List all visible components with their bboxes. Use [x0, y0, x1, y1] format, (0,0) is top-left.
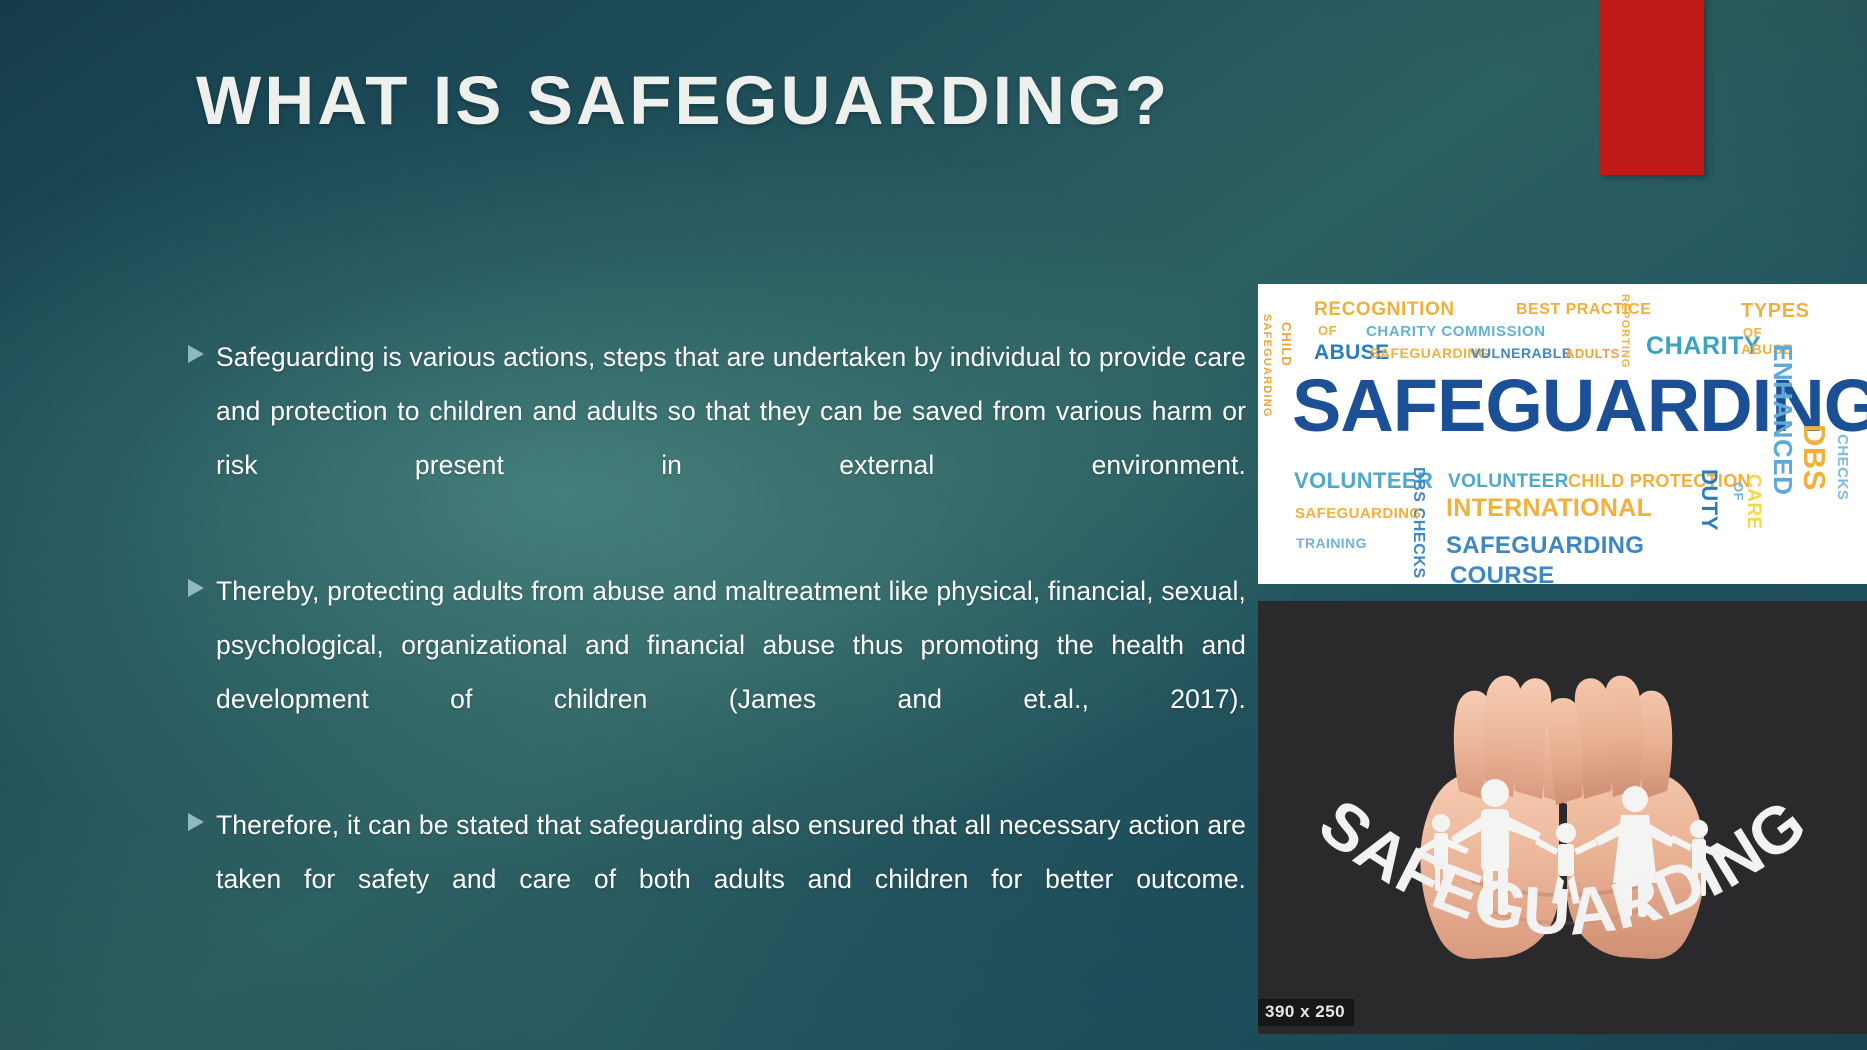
wordcloud-word: CHECKS	[1835, 434, 1850, 500]
bullet-text: Thereby, protecting adults from abuse an…	[216, 564, 1246, 780]
wordcloud-word: ENHANCED	[1770, 344, 1796, 495]
wordcloud-word: CHARITY COMMISSION	[1366, 324, 1546, 339]
slide-canvas: WHAT IS SAFEGUARDING? Safeguarding is va…	[0, 0, 1867, 1050]
triangle-bullet-icon	[186, 811, 216, 833]
wordcloud-word: CHILD PROTECTION	[1568, 472, 1751, 490]
image-size-badge: 390 x 250	[1258, 999, 1354, 1026]
wordcloud-word: OF	[1743, 326, 1762, 339]
wordcloud-word: INTERNATIONAL	[1446, 496, 1652, 521]
list-item: Safeguarding is various actions, steps t…	[186, 330, 1246, 546]
wordcloud-word: RECOGNITION	[1314, 300, 1455, 319]
wordcloud-word: TRAINING	[1296, 536, 1367, 550]
wordcloud-word: SAFEGUARDING	[1261, 314, 1272, 418]
red-accent-bar	[1600, 0, 1704, 175]
wordcloud-word: REPORTING	[1619, 294, 1630, 368]
image-column: SAFEGUARDINGCHILDRECOGNITIONOFABUSECHARI…	[1258, 284, 1867, 1034]
wordcloud-word: CARE	[1744, 474, 1763, 530]
wordcloud-word: SAFEGUARDING	[1295, 506, 1421, 521]
wordcloud-word: DBS CHECKS	[1410, 467, 1426, 579]
wordcloud-word: CHILD	[1280, 322, 1293, 367]
bullet-text: Therefore, it can be stated that safegua…	[216, 798, 1246, 960]
hands-illustration	[1323, 641, 1803, 971]
wordcloud-word: BEST PRACTICE	[1516, 302, 1651, 318]
wordcloud-word: COURSE	[1450, 564, 1554, 584]
wordcloud-word: SAFEGUARDING	[1446, 534, 1644, 558]
wordcloud-word: VULNERABLE	[1471, 346, 1572, 360]
hands-holding-paper-family-photo: SAFEGUARDING 390 x 250	[1258, 601, 1867, 1034]
wordcloud-word: VOLUNTEER	[1448, 472, 1569, 491]
wordcloud-word: ADULTS	[1565, 347, 1620, 360]
triangle-bullet-icon	[186, 577, 216, 599]
triangle-bullet-icon	[186, 343, 216, 365]
photo-background: SAFEGUARDING 390 x 250	[1258, 601, 1867, 1034]
wordcloud-word: TYPES	[1741, 301, 1810, 321]
slide-title: WHAT IS SAFEGUARDING?	[196, 62, 1496, 139]
safeguarding-word-cloud-image: SAFEGUARDINGCHILDRECOGNITIONOFABUSECHARI…	[1258, 284, 1867, 584]
wordcloud-word: DUTY	[1698, 469, 1720, 531]
list-item: Therefore, it can be stated that safegua…	[186, 798, 1246, 960]
wordcloud-word: OF	[1318, 324, 1337, 337]
bullet-list: Safeguarding is various actions, steps t…	[186, 330, 1246, 978]
wordcloud-word: DBS	[1799, 424, 1830, 491]
list-item: Thereby, protecting adults from abuse an…	[186, 564, 1246, 780]
bullet-text: Safeguarding is various actions, steps t…	[216, 330, 1246, 546]
